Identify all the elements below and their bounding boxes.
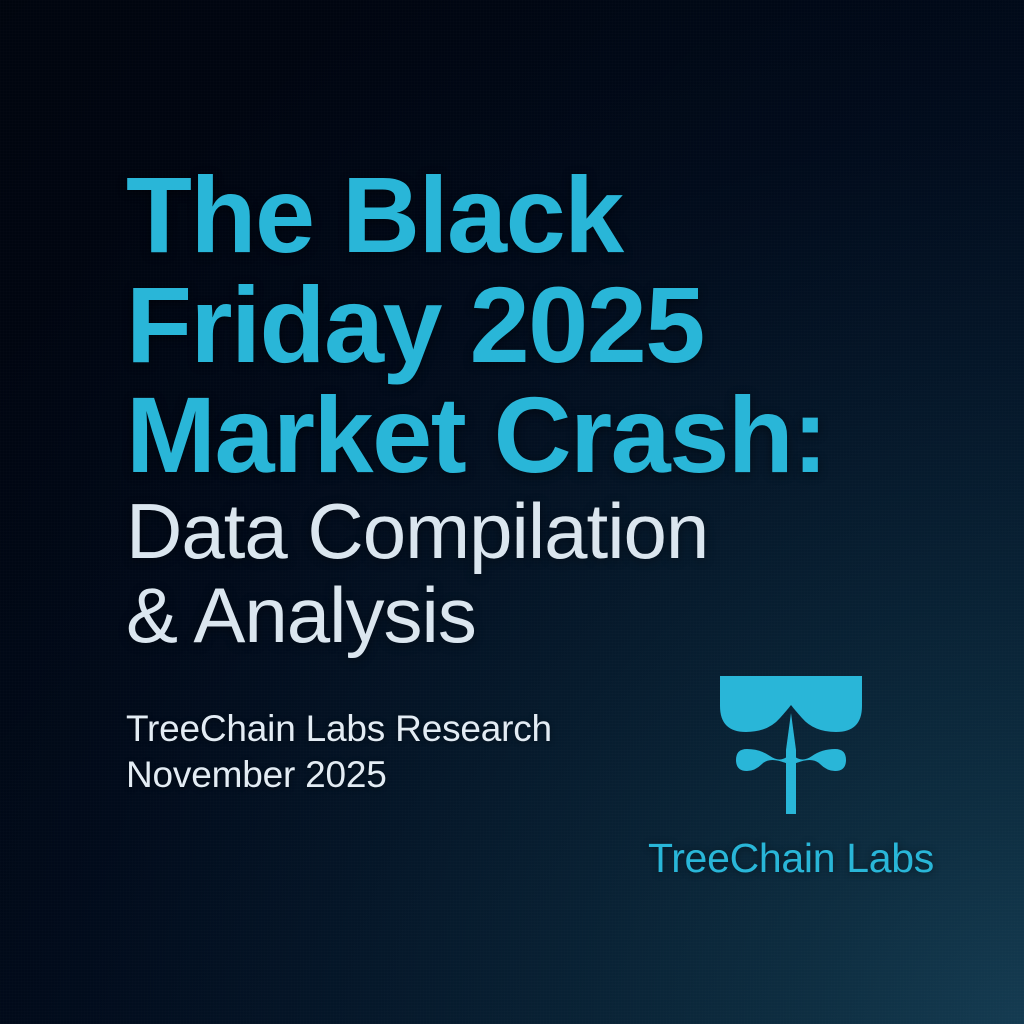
logo-branch-right (794, 749, 846, 771)
brand-logo-lockup: TreeChain Labs (636, 672, 946, 880)
page-title: The Black Friday 2025 Market Crash: (126, 160, 846, 490)
headline-line-3: Market Crash: (126, 380, 846, 490)
byline-organization: TreeChain Labs Research (126, 706, 552, 752)
page-subtitle: Data Compilation & Analysis (126, 489, 886, 657)
headline-line-1: The Black (126, 160, 846, 270)
subtitle-line-1: Data Compilation (126, 489, 886, 573)
logo-branch-left (736, 749, 788, 771)
treechain-tree-logo-icon (714, 672, 868, 818)
brand-wordmark: TreeChain Labs (636, 836, 946, 880)
subtitle-line-2: & Analysis (126, 573, 886, 657)
byline-date: November 2025 (126, 752, 552, 798)
byline: TreeChain Labs Research November 2025 (126, 706, 552, 798)
poster-canvas: The Black Friday 2025 Market Crash: Data… (0, 0, 1024, 1024)
headline-line-2: Friday 2025 (126, 270, 846, 380)
